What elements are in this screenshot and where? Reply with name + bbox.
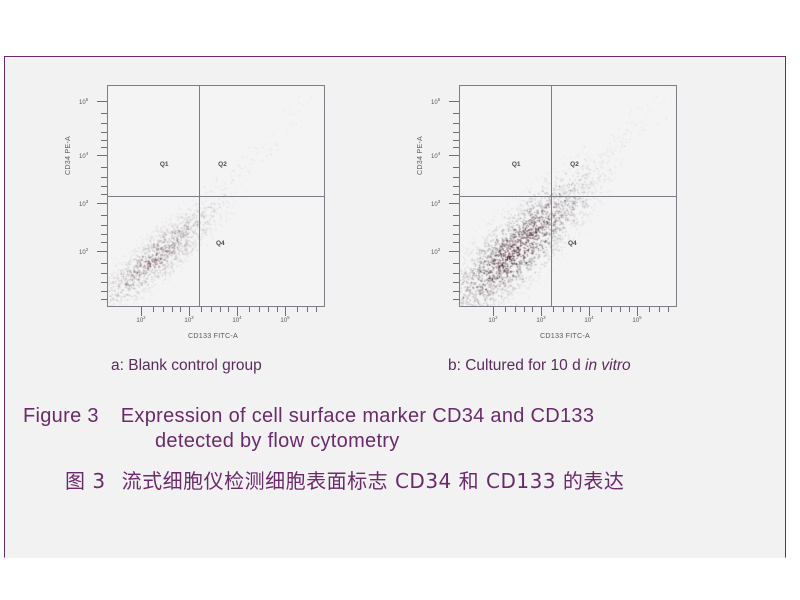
panel-b-x-axis-label: CD133 FITC-A [465, 331, 665, 340]
panel-a-xtick [228, 307, 229, 312]
panel-a-xtick [220, 307, 221, 312]
panel-b-xtick [515, 307, 516, 312]
panel-b-xtick [505, 307, 506, 312]
panel-a-ytick-major [97, 251, 107, 252]
panel-b-ytick-label: 105 [431, 97, 440, 106]
figure-card: CD34 PE-A CD133 FITC-A [4, 56, 786, 558]
panel-b-xtick [532, 307, 533, 312]
panel-b-ytick-label: 103 [431, 199, 440, 208]
sub-caption-b-italic: in vitro [585, 357, 631, 374]
panel-b-xtick [580, 307, 581, 312]
panel-a-xtick [297, 307, 298, 312]
panel-a-quadrant-q2: Q2 [218, 161, 227, 168]
panel-a-ytick-label: 105 [79, 97, 88, 106]
panel-b-xtick-label: 104 [584, 315, 593, 324]
caption-english-line1: Figure 3Expression of cell surface marke… [5, 405, 787, 428]
panel-a-x-axis-label: CD133 FITC-A [113, 331, 313, 340]
panel-a-ytick-major [97, 101, 107, 102]
panel-b-xtick [553, 307, 554, 312]
panel-a-y-axis-label: CD34 PE-A [63, 136, 72, 175]
panel-a-ytick-label: 104 [79, 151, 88, 160]
panel-b-xtick [563, 307, 564, 312]
panel-a-ytick-label: 103 [79, 199, 88, 208]
panel-a-xtick [249, 307, 250, 312]
panel-b-ytick-major [449, 155, 459, 156]
panel-a-xtick [153, 307, 154, 312]
sub-captions-row: a: Blank control group b: Cultured for 1… [5, 357, 787, 397]
panel-b-ytick-major [449, 251, 459, 252]
figure-caption: Figure 3Expression of cell surface marke… [5, 405, 787, 494]
panel-a-xtick-label: 103 [184, 315, 193, 324]
caption-title-zh: 流式细胞仪检测细胞表面标志 CD34 和 CD133 的表达 [122, 469, 625, 493]
panel-b-ytick-label: 104 [431, 151, 440, 160]
caption-title-en-1: Expression of cell surface marker CD34 a… [121, 405, 595, 427]
panel-b-xtick [659, 307, 660, 312]
sub-caption-b: b: Cultured for 10 d in vitro [448, 357, 631, 375]
panel-b-xtick [524, 307, 525, 312]
panel-a-xtick [172, 307, 173, 312]
panel-a-quadrant-q4: Q4 [216, 240, 225, 247]
panel-a-ytick-major [97, 203, 107, 204]
caption-chinese: 图 3流式细胞仪检测细胞表面标志 CD34 和 CD133 的表达 [5, 465, 787, 494]
flow-cytometry-panel-b: CD34 PE-A CD133 FITC-A [417, 79, 717, 364]
panel-b-xtick-label: 103 [536, 315, 545, 324]
panel-a-xtick-label: 104 [232, 315, 241, 324]
panel-b-plot-area[interactable]: Q1 Q2 Q4 [459, 85, 677, 307]
panel-a-xtick [268, 307, 269, 312]
panel-b-xtick [629, 307, 630, 312]
panel-a-quadrant-q1: Q1 [160, 161, 169, 168]
sub-caption-b-lead: b: Cultured for 10 d [448, 357, 585, 374]
panel-b-xtick [601, 307, 602, 312]
panel-a-xtick [259, 307, 260, 312]
panel-a-xtick [211, 307, 212, 312]
figure-number-en: Figure 3 [23, 405, 99, 427]
panel-b-xtick [620, 307, 621, 312]
panel-a-horizontal-gate [108, 196, 324, 197]
plots-row: CD34 PE-A CD133 FITC-A [5, 57, 787, 357]
panel-a-ytick-major [97, 155, 107, 156]
panel-b-y-axis-label: CD34 PE-A [415, 136, 424, 175]
panel-b-ytick-major [449, 203, 459, 204]
panel-b-ytick-major [449, 101, 459, 102]
panel-a-ytick-label: 102 [79, 247, 88, 256]
panel-b-xtick-label: 102 [488, 315, 497, 324]
panel-b-xtick-label: 105 [632, 315, 641, 324]
panel-a-xtick [316, 307, 317, 312]
panel-a-xtick [163, 307, 164, 312]
panel-b-xtick [611, 307, 612, 312]
panel-b-horizontal-gate [460, 196, 676, 197]
flow-cytometry-panel-a: CD34 PE-A CD133 FITC-A [65, 79, 365, 364]
panel-a-xtick [180, 307, 181, 312]
caption-english-line2: detected by flow cytometry [5, 430, 787, 453]
panel-b-ytick-label: 102 [431, 247, 440, 256]
panel-a-xtick [307, 307, 308, 312]
panel-a-xtick [201, 307, 202, 312]
figure-number-zh: 图 3 [65, 469, 106, 493]
slide-canvas: CD34 PE-A CD133 FITC-A [0, 0, 800, 600]
panel-b-xtick [668, 307, 669, 312]
panel-a-xtick [277, 307, 278, 312]
panel-b-quadrant-q2: Q2 [570, 161, 579, 168]
panel-b-quadrant-q1: Q1 [512, 161, 521, 168]
sub-caption-a: a: Blank control group [111, 357, 262, 375]
panel-b-xtick [572, 307, 573, 312]
panel-a-plot-area[interactable]: Q1 Q2 Q4 [107, 85, 325, 307]
panel-b-quadrant-q4: Q4 [568, 240, 577, 247]
panel-a-xtick-label: 105 [280, 315, 289, 324]
panel-a-xtick-label: 102 [136, 315, 145, 324]
panel-b-xtick [649, 307, 650, 312]
